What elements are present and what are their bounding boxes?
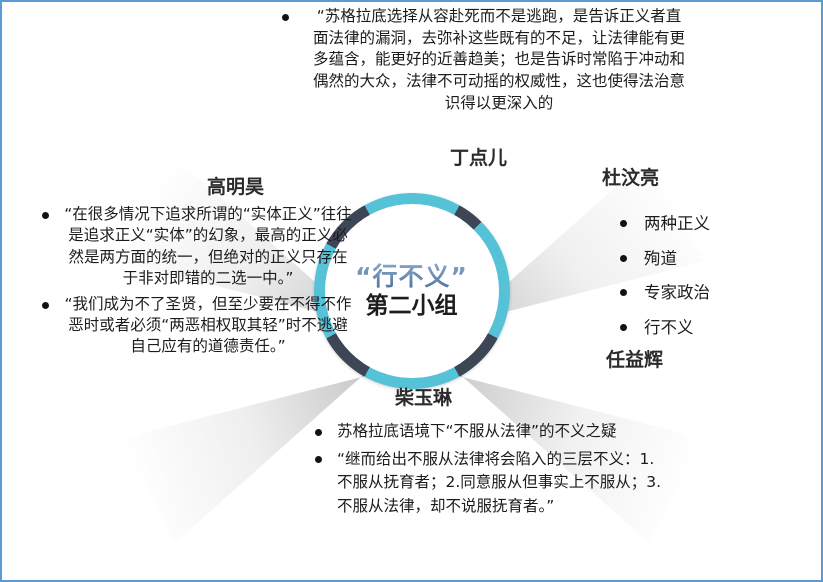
list-item: 殉道 [608, 246, 813, 272]
list-item: “继而给出不服从法律将会陷入的三层不义：1.不服从抚育者；2.同意服从但事实上不… [307, 448, 667, 519]
list-item: “苏格拉底选择从容赴死而不是逃跑，是告诉正义者直面法律的漏洞，去弥补这些既有的不… [280, 6, 688, 114]
spoke-left-name: 高明昊 [207, 172, 264, 199]
list-item: 两种正义 [608, 211, 813, 237]
list-item: “我们成为不了圣贤，但至少要在不得不作恶时或者必须“两恶相权取其轻”时不逃避自己… [24, 294, 354, 358]
spoke-top-bullets: “苏格拉底选择从容赴死而不是逃跑，是告诉正义者直面法律的漏洞，去弥补这些既有的不… [280, 6, 688, 116]
spoke-bottom-name: 柴玉琳 [395, 383, 452, 410]
spoke-right-name: 杜汶亮 [602, 163, 659, 190]
center-hub-text: “行不义” 第二小组 [314, 262, 510, 321]
list-item: “在很多情况下追求所谓的“实体正义”往往是追求正义“实体”的幻象，最高的正义必然… [24, 204, 354, 290]
spoke-left-bullets: “在很多情况下追求所谓的“实体正义”往往是追求正义“实体”的幻象，最高的正义必然… [24, 204, 354, 362]
list-item: 苏格拉底语境下“不服从法律”的不义之疑 [307, 420, 667, 444]
list-item: 行不义 [608, 315, 813, 341]
spoke-bottom-bullets: 苏格拉底语境下“不服从法律”的不义之疑 “继而给出不服从法律将会陷入的三层不义：… [307, 420, 667, 522]
spoke-top-name: 丁点儿 [450, 143, 507, 170]
hub-subtitle: 第二小组 [314, 293, 510, 320]
spoke-right-bullets: 两种正义 殉道 专家政治 行不义 [608, 211, 813, 349]
diagram-canvas: “行不义” 第二小组 “苏格拉底选择从容赴死而不是逃跑，是告诉正义者直面法律的漏… [0, 0, 823, 582]
spoke-right-name-secondary: 任益辉 [606, 345, 663, 372]
list-item: 专家政治 [608, 280, 813, 306]
hub-title: “行不义” [314, 262, 510, 292]
